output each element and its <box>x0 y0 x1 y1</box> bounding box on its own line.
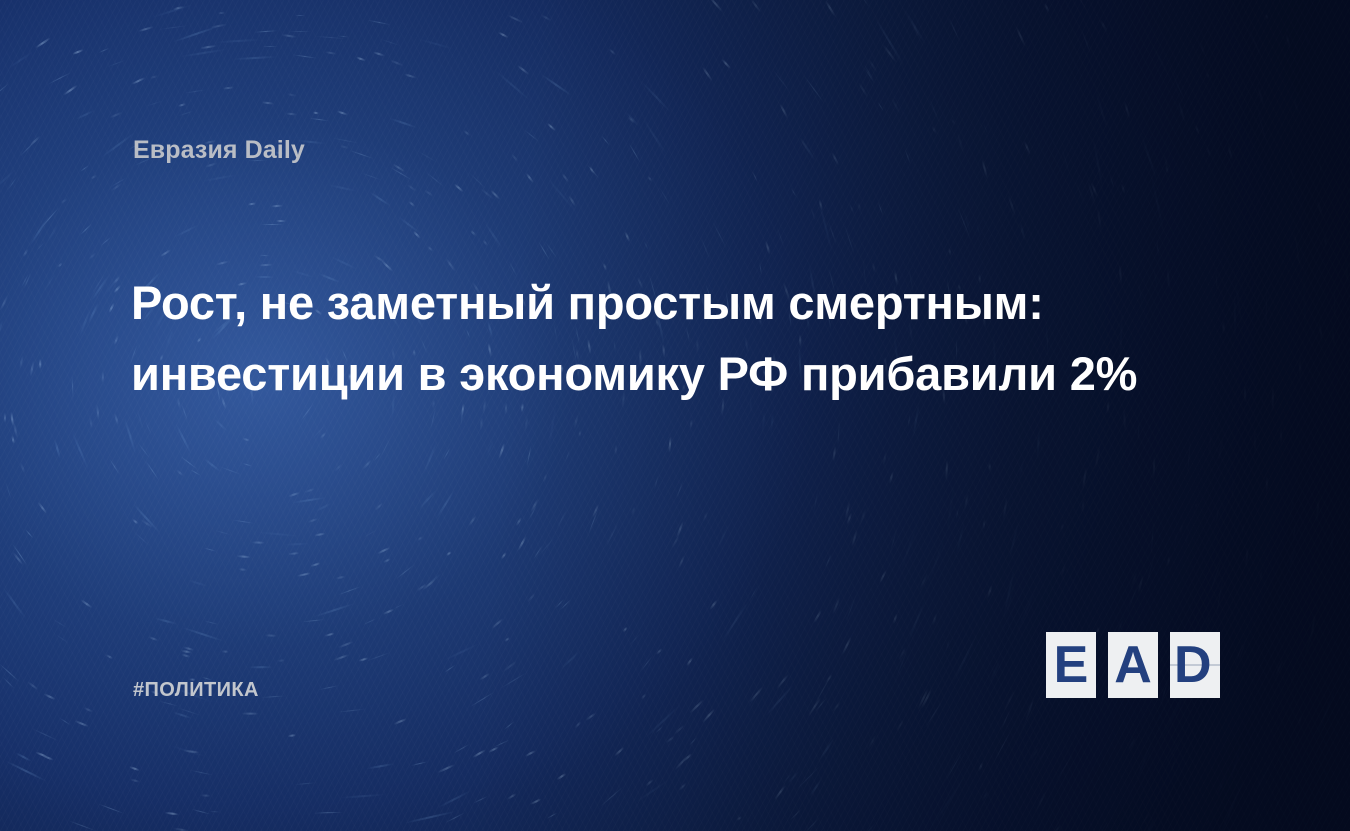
social-share-card: Евразия Daily Рост, не заметный простым … <box>0 0 1350 831</box>
card-content: Евразия Daily Рост, не заметный простым … <box>0 0 1350 831</box>
logo-letter-e: E <box>1046 632 1096 698</box>
page-title: Рост, не заметный простым смертным: инве… <box>131 267 1201 409</box>
logo-letter-a: A <box>1108 632 1158 698</box>
brand-title: Евразия Daily <box>133 136 305 165</box>
category-tag: #ПОЛИТИКА <box>133 679 259 702</box>
eadaily-logo: E A D <box>1046 632 1226 698</box>
logo-letter-d: D <box>1170 632 1226 698</box>
